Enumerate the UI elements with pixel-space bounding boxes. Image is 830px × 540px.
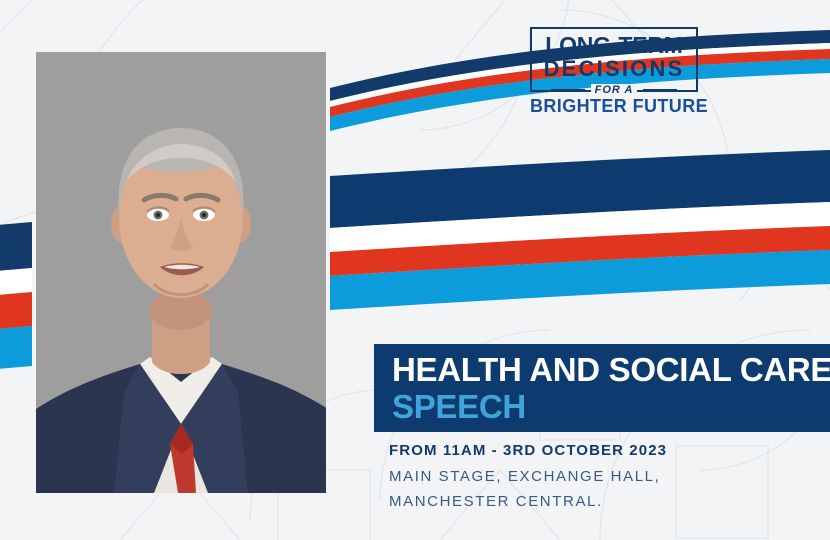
event-venue-line-1: MAIN STAGE, EXCHANGE HALL, (389, 466, 667, 487)
logo-connector-for-a: FOR A (591, 84, 638, 96)
logo-rule-left (551, 89, 585, 91)
page-subtitle: SPEECH (392, 388, 526, 426)
event-venue-line-2: MANCHESTER CENTRAL. (389, 491, 667, 512)
logo-rule-right (643, 89, 677, 91)
middle-ribbon (330, 150, 830, 310)
logo-line-decisions: DECISIONS (541, 57, 687, 81)
logo-box: LONG-TERM DECISIONS (530, 27, 698, 92)
event-details: FROM 11AM - 3RD OCTOBER 2023 MAIN STAGE,… (389, 440, 667, 512)
page-title: HEALTH AND SOCIAL CARE (392, 351, 830, 389)
event-time: FROM 11AM - 3RD OCTOBER 2023 (389, 440, 667, 462)
campaign-logo: LONG-TERM DECISIONS FOR A BRIGHTER FUTUR… (530, 27, 698, 116)
logo-line-brighter-future: BRIGHTER FUTURE (530, 97, 698, 116)
logo-line-long-term: LONG-TERM (541, 34, 687, 57)
poster-canvas: LONG-TERM DECISIONS FOR A BRIGHTER FUTUR… (0, 0, 830, 540)
title-banner: HEALTH AND SOCIAL CARE SPEECH (374, 344, 830, 432)
portrait-photo (36, 52, 326, 493)
logo-connector-row: FOR A (530, 84, 698, 96)
